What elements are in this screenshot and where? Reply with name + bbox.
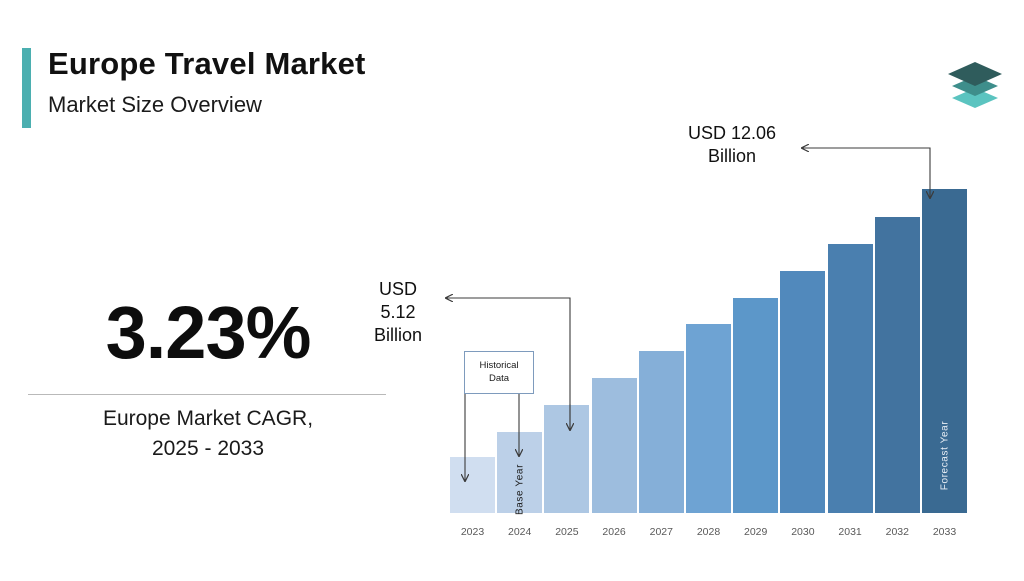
base-year-label: Base Year	[514, 464, 525, 515]
historical-data-line1: Historical	[479, 360, 518, 372]
bar-2023	[450, 457, 495, 513]
x-tick-2025: 2025	[544, 526, 589, 538]
start-value-line3: Billion	[352, 324, 444, 347]
bar-2029	[733, 298, 778, 513]
x-tick-2028: 2028	[686, 526, 731, 538]
x-tick-2024: 2024	[497, 526, 542, 538]
cagr-divider	[28, 394, 386, 395]
bar-2033: Forecast Year	[922, 189, 967, 513]
bar-2025	[544, 405, 589, 513]
x-tick-2032: 2032	[875, 526, 920, 538]
start-value-line1: USD	[352, 278, 444, 301]
x-tick-2029: 2029	[733, 526, 778, 538]
cagr-caption: Europe Market CAGR, 2025 - 2033	[28, 404, 388, 464]
cagr-caption-line1: Europe Market CAGR,	[28, 404, 388, 434]
page-title: Europe Travel Market	[48, 46, 366, 82]
x-tick-2030: 2030	[780, 526, 825, 538]
bar-2030	[780, 271, 825, 513]
bar-2026	[592, 378, 637, 513]
end-value-line2: Billion	[664, 145, 800, 168]
bar-2031	[828, 244, 873, 513]
bar-2032	[875, 217, 920, 513]
end-value-line1: USD 12.06	[664, 122, 800, 145]
historical-data-line2: Data	[479, 373, 518, 385]
bar-chart: Base YearForecast Year 20232024202520262…	[440, 120, 1000, 560]
cagr-caption-line2: 2025 - 2033	[28, 434, 388, 464]
cagr-value: 3.23%	[28, 296, 388, 370]
page-subtitle: Market Size Overview	[48, 92, 262, 118]
start-value-line2: 5.12	[352, 301, 444, 324]
x-tick-2033: 2033	[922, 526, 967, 538]
forecast-year-label: Forecast Year	[939, 421, 950, 491]
bar-2028	[686, 324, 731, 513]
historical-data-box: Historical Data	[464, 351, 534, 394]
start-value-callout-label: USD 5.12 Billion	[352, 278, 444, 347]
bar-2024: Base Year	[497, 432, 542, 513]
x-tick-2031: 2031	[828, 526, 873, 538]
market-size-infographic: Europe Travel Market Market Size Overvie…	[0, 0, 1024, 581]
x-tick-2026: 2026	[592, 526, 637, 538]
header-accent-bar	[22, 48, 31, 128]
x-tick-2023: 2023	[450, 526, 495, 538]
stacked-layers-logo	[944, 58, 1006, 114]
bar-2027	[639, 351, 684, 513]
x-tick-2027: 2027	[639, 526, 684, 538]
end-value-callout-label: USD 12.06 Billion	[664, 122, 800, 168]
stacked-layers-icon	[944, 58, 1006, 114]
